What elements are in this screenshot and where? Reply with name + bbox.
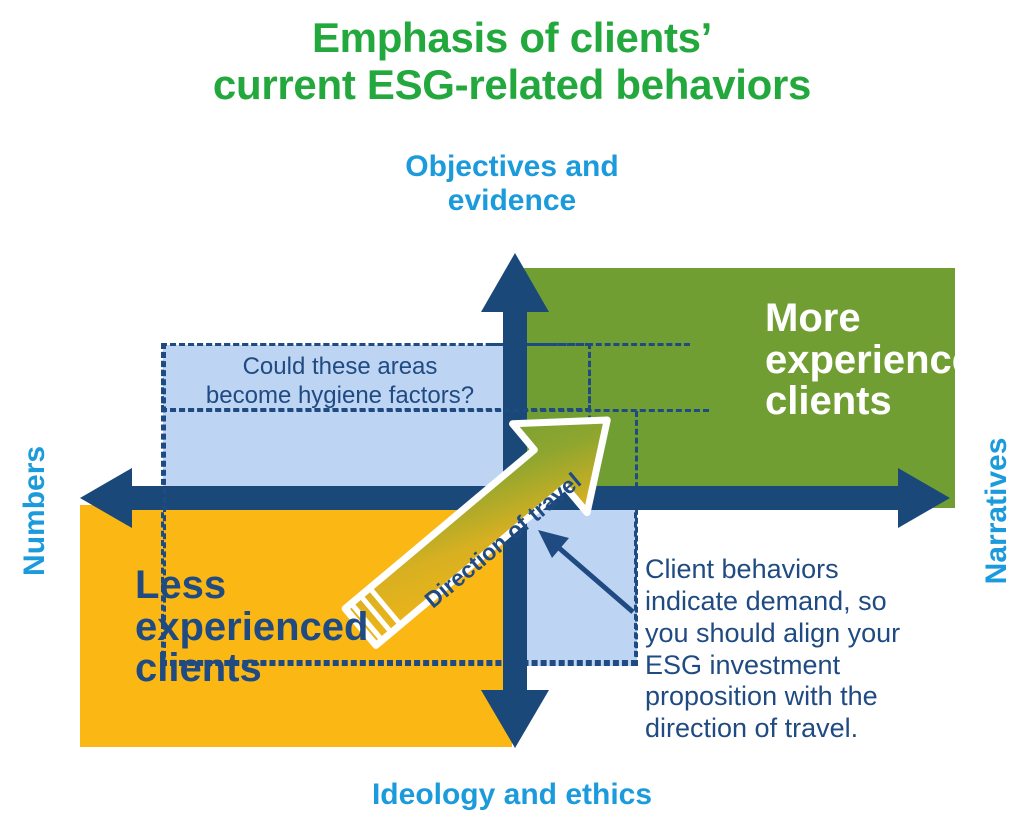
label-more-line-3: clients [765,381,965,423]
callout-line-1: Client behaviors [645,554,947,586]
hygiene-line-2: become hygiene factors? [170,381,510,410]
hygiene-line-1: Could these areas [170,352,510,381]
label-less-line-3: clients [135,648,465,690]
vertical-axis-shaft [503,284,527,718]
label-less-line-1: Less [135,565,465,607]
axis-label-top: Objectives and evidence [312,150,712,218]
axis-arrow-right [898,468,950,528]
callout-line-5: proposition with the [645,681,947,713]
axis-label-top-line-2: evidence [312,184,712,218]
client-behaviors-callout: Client behaviors indicate demand, so you… [641,552,951,747]
label-more-line-2: experienced [765,340,965,382]
axis-arrow-left [80,468,132,528]
hygiene-factors-question: Could these areas become hygiene factors… [170,352,510,411]
callout-line-4: ESG investment [645,650,947,682]
label-more-experienced-clients: More experienced clients [765,298,965,423]
axis-label-right: Narratives [980,386,1014,636]
label-less-line-2: experienced [135,607,465,649]
callout-line-3: you should align your [645,618,947,650]
axis-label-top-line-1: Objectives and [312,150,712,184]
callout-line-2: indicate demand, so [645,586,947,618]
diagram-canvas: Emphasis of clients’ current ESG-related… [0,0,1024,835]
axis-label-left: Numbers [18,386,52,636]
axis-arrow-top [481,253,549,312]
axis-label-bottom: Ideology and ethics [312,778,712,812]
axis-arrow-bottom [481,690,549,748]
label-less-experienced-clients: Less experienced clients [135,565,465,690]
callout-line-6: direction of travel. [645,713,947,745]
label-more-line-1: More [765,298,965,340]
